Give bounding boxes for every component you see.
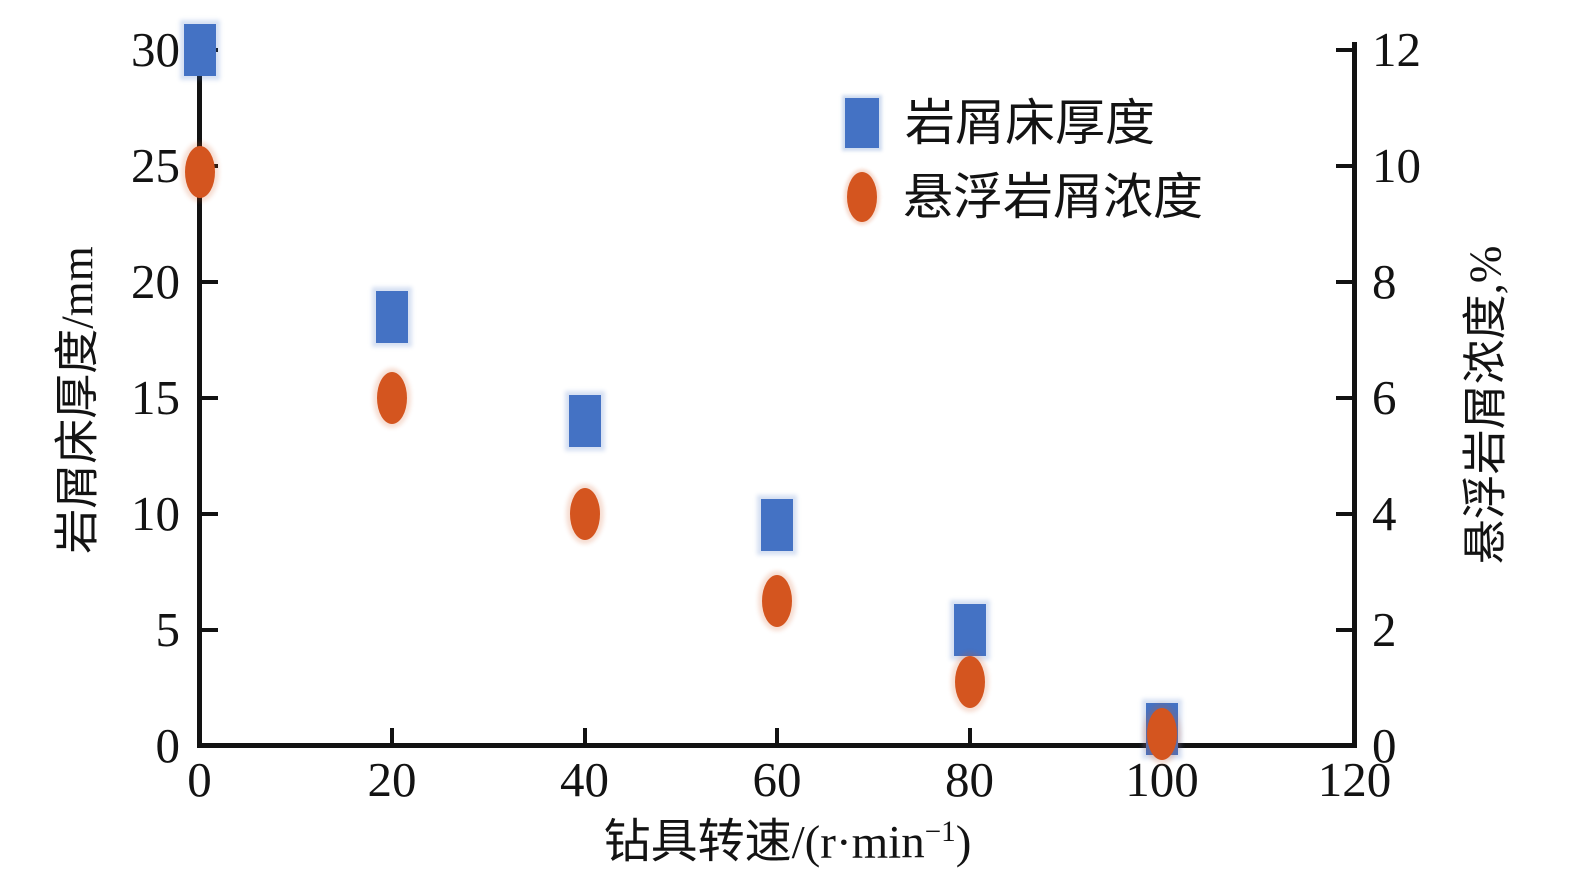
x-axis-tick xyxy=(968,728,972,744)
data-point-suspended-cuttings-concentration xyxy=(1147,708,1177,760)
x-axis-tick-label: 60 xyxy=(697,755,857,804)
y-axis-left-tick-label: 30 xyxy=(60,25,180,74)
x-axis-title-base: 钻具转速/(r·min xyxy=(604,817,925,869)
x-axis-tick-label: 80 xyxy=(890,755,1050,804)
chart-legend: 岩屑床厚度悬浮岩屑浓度 xyxy=(845,86,1203,234)
x-axis-tick xyxy=(583,728,587,744)
data-point-suspended-cuttings-concentration xyxy=(377,372,407,424)
legend-item[interactable]: 悬浮岩屑浓度 xyxy=(845,160,1203,234)
data-point-cuttings-bed-thickness xyxy=(184,24,216,76)
legend-ellipse-icon xyxy=(847,172,877,222)
x-axis-tick xyxy=(775,728,779,744)
data-point-suspended-cuttings-concentration xyxy=(762,575,792,627)
y-axis-right-tick xyxy=(1336,164,1352,168)
x-axis-tick xyxy=(390,728,394,744)
y-axis-left-tick xyxy=(202,744,218,748)
y-axis-right-title: 悬浮岩屑浓度,% xyxy=(1464,246,1509,565)
data-point-suspended-cuttings-concentration xyxy=(185,146,215,198)
x-axis-tick-label: 20 xyxy=(312,755,472,804)
y-axis-left-title: 岩屑床厚度/mm xyxy=(56,246,101,554)
y-axis-left-tick xyxy=(202,512,218,516)
y-axis-right-tick xyxy=(1336,628,1352,632)
y-axis-left-tick xyxy=(202,396,218,400)
data-point-cuttings-bed-thickness xyxy=(569,395,601,447)
data-point-suspended-cuttings-concentration xyxy=(570,488,600,540)
y-axis-left-tick xyxy=(202,628,218,632)
x-axis-tick-label: 0 xyxy=(120,755,280,804)
y-axis-right-tick xyxy=(1336,512,1352,516)
data-point-cuttings-bed-thickness xyxy=(761,499,793,551)
data-point-suspended-cuttings-concentration xyxy=(955,656,985,708)
legend-item[interactable]: 岩屑床厚度 xyxy=(845,86,1203,160)
x-axis-title: 钻具转速/(r·min−1) xyxy=(0,818,1575,867)
y-axis-right-tick xyxy=(1336,48,1352,52)
y-axis-right-tick xyxy=(1336,280,1352,284)
y-axis-left-tick xyxy=(202,280,218,284)
y-axis-right-tick xyxy=(1336,396,1352,400)
y-axis-right-tick-label: 12 xyxy=(1372,25,1492,74)
y-axis-right-line xyxy=(1352,42,1357,748)
x-axis-tick-label: 40 xyxy=(505,755,665,804)
x-axis-tick-label: 120 xyxy=(1275,755,1435,804)
data-point-cuttings-bed-thickness xyxy=(376,291,408,343)
x-axis-title-tail: ) xyxy=(956,817,972,869)
x-axis-title-exponent: −1 xyxy=(925,816,956,848)
chart-figure: 051015202530 024681012 020406080100120 岩… xyxy=(0,0,1575,896)
x-axis-tick-label: 100 xyxy=(1082,755,1242,804)
y-axis-left-title-wrap: 岩屑床厚度/mm xyxy=(48,170,108,630)
legend-item-label: 悬浮岩屑浓度 xyxy=(903,172,1203,222)
legend-item-label: 岩屑床厚度 xyxy=(905,98,1155,148)
data-point-cuttings-bed-thickness xyxy=(954,604,986,656)
y-axis-right-title-wrap: 悬浮岩屑浓度,% xyxy=(1456,170,1516,640)
y-axis-right-tick xyxy=(1336,744,1352,748)
legend-square-icon xyxy=(845,98,879,148)
